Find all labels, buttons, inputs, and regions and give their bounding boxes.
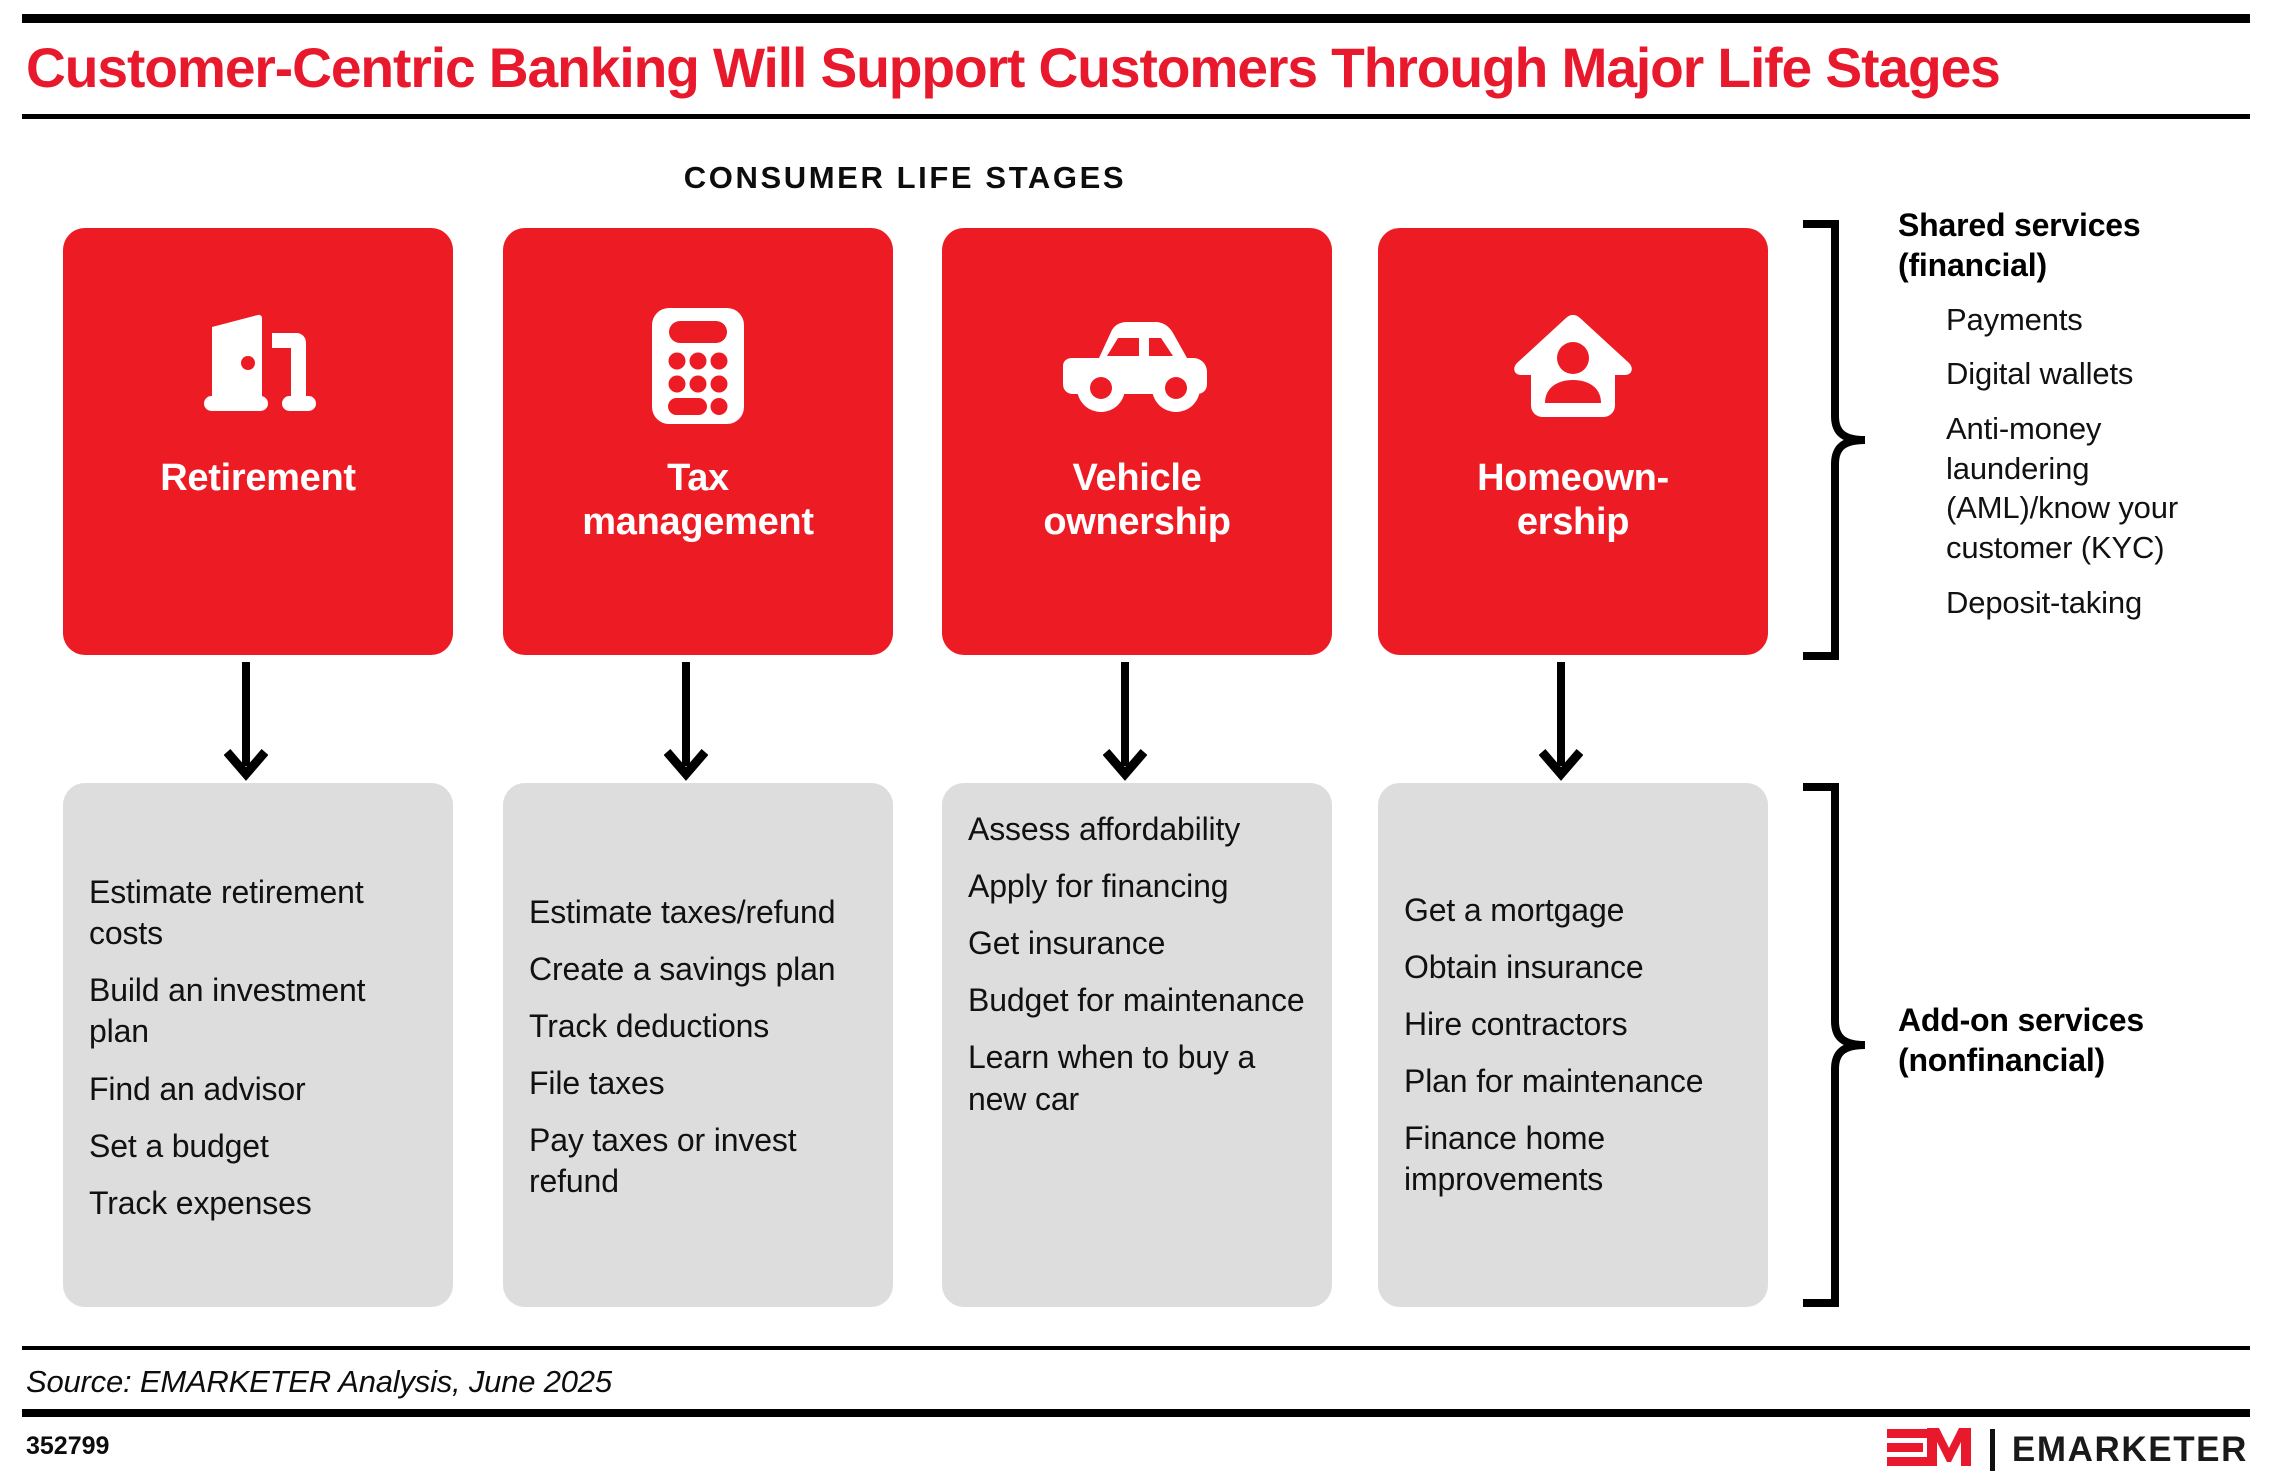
logo-divider <box>1990 1429 1995 1471</box>
legend-addon-services: Add-on services (nonfinancial) <box>1898 1000 2248 1081</box>
legend-heading: Shared services (financial) <box>1898 205 2250 286</box>
list-item: Create a savings plan <box>529 949 867 990</box>
list-item: Pay taxes or invest refund <box>529 1120 867 1202</box>
list-item: Find an advisor <box>89 1069 427 1110</box>
header-top-rule <box>22 14 2250 23</box>
list-item: Estimate retirement costs <box>89 872 427 954</box>
stage-card-vehicle-ownership[interactable]: Vehicle ownership <box>942 228 1332 655</box>
stage-card-retirement[interactable]: Retirement <box>63 228 453 655</box>
list-item: Budget for maintenance <box>968 980 1306 1021</box>
list-item: Digital wallets <box>1946 354 2250 394</box>
source-top-rule <box>22 1346 2250 1350</box>
chart-id: 352799 <box>26 1432 109 1461</box>
page-title: Customer-Centric Banking Will Support Cu… <box>26 32 2213 104</box>
list-item: File taxes <box>529 1063 867 1104</box>
source-bottom-rule <box>22 1409 2250 1417</box>
flow-arrow-vehicle-ownership <box>1103 662 1147 784</box>
stage-card-tax-management[interactable]: Tax management <box>503 228 893 655</box>
brace-shared-services <box>1795 220 1873 665</box>
infographic-page: Customer-Centric Banking Will Support Cu… <box>0 0 2272 1478</box>
car-icon <box>1063 306 1211 426</box>
calculator-icon <box>652 306 744 426</box>
logo-wordmark: EMARKETER <box>2012 1430 2248 1470</box>
legend-heading: Add-on services (nonfinancial) <box>1898 1000 2248 1081</box>
list-item: Assess affordability <box>968 809 1306 850</box>
legend-shared-services: Shared services (financial) Payments Dig… <box>1898 205 2250 622</box>
brace-addon-services <box>1795 783 1873 1312</box>
legend-list: Payments Digital wallets Anti-money laun… <box>1898 300 2250 623</box>
list-item: Hire contractors <box>1404 1004 1742 1045</box>
emarketer-logo[interactable]: EMARKETER <box>1887 1424 2248 1475</box>
house-person-icon <box>1512 306 1634 426</box>
stage-label: Vehicle ownership <box>1043 456 1230 544</box>
list-item: Get insurance <box>968 923 1306 964</box>
section-subtitle: CONSUMER LIFE STAGES <box>0 160 1810 196</box>
stage-label: Retirement <box>160 456 356 500</box>
list-item: Track deductions <box>529 1006 867 1047</box>
stage-column-retirement: Retirement <box>63 228 453 655</box>
stage-card-homeownership[interactable]: Homeown- ership <box>1378 228 1768 655</box>
list-item: Payments <box>1946 300 2250 340</box>
list-item: Build an investment plan <box>89 970 427 1052</box>
stage-column-homeownership: Homeown- ership <box>1378 228 1768 655</box>
header-bottom-rule <box>22 114 2250 119</box>
list-item: Finance home improvements <box>1404 1118 1742 1200</box>
source-text: Source: EMARKETER Analysis, June 2025 <box>26 1364 612 1400</box>
addon-card-retirement: Estimate retirement costs Build an inves… <box>63 783 453 1307</box>
stage-column-tax-management: Tax management <box>503 228 893 655</box>
list-item: Plan for maintenance <box>1404 1061 1742 1102</box>
stage-column-vehicle-ownership: Vehicle ownership <box>942 228 1332 655</box>
addon-card-vehicle-ownership: Assess affordability Apply for financing… <box>942 783 1332 1307</box>
list-item: Apply for financing <box>968 866 1306 907</box>
em-logo-icon <box>1887 1424 1973 1475</box>
stage-label: Tax management <box>582 456 813 544</box>
flow-arrow-retirement <box>224 662 268 784</box>
list-item: Learn when to buy a new car <box>968 1037 1306 1119</box>
list-item: Set a budget <box>89 1126 427 1167</box>
list-item: Get a mortgage <box>1404 890 1742 931</box>
list-item: Anti-money laundering (AML)/know your cu… <box>1946 409 2250 568</box>
addon-card-homeownership: Get a mortgage Obtain insurance Hire con… <box>1378 783 1768 1307</box>
door-exit-icon <box>200 306 316 426</box>
addon-card-tax-management: Estimate taxes/refund Create a savings p… <box>503 783 893 1307</box>
list-item: Deposit-taking <box>1946 583 2250 623</box>
flow-arrow-tax-management <box>664 662 708 784</box>
list-item: Obtain insurance <box>1404 947 1742 988</box>
stage-label: Homeown- ership <box>1477 456 1669 544</box>
flow-arrow-homeownership <box>1539 662 1583 784</box>
list-item: Estimate taxes/refund <box>529 892 867 933</box>
list-item: Track expenses <box>89 1183 427 1224</box>
